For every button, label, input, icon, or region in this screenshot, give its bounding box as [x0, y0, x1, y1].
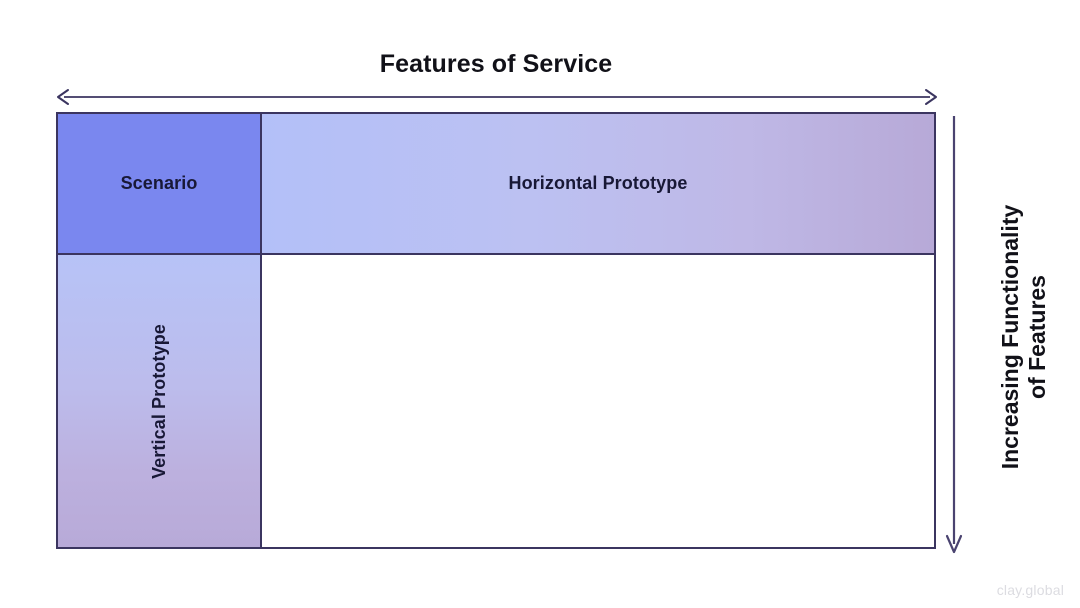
matrix-cell-scenario-label: Scenario: [121, 173, 198, 194]
matrix-cell-horizontal-prototype[interactable]: Horizontal Prototype: [262, 114, 934, 255]
matrix-cell-empty[interactable]: [262, 255, 934, 547]
right-axis-label-line2: of Features: [1024, 275, 1050, 399]
watermark: clay.global: [997, 582, 1064, 598]
matrix-cell-vertical-prototype[interactable]: Vertical Prototype: [58, 255, 262, 547]
right-axis: Increasing Functionality of Features: [938, 112, 1078, 560]
matrix-cell-scenario[interactable]: Scenario: [58, 114, 262, 255]
matrix-cell-vertical-prototype-label: Vertical Prototype: [148, 324, 169, 479]
horizontal-double-arrow-icon: [54, 82, 940, 112]
right-axis-label-line1: Increasing Functionality: [997, 205, 1023, 470]
top-axis-arrow: [54, 82, 940, 112]
page-title: Features of Service: [56, 50, 936, 79]
right-axis-label: Increasing Functionality of Features: [976, 114, 1072, 560]
matrix-cell-horizontal-prototype-label: Horizontal Prototype: [508, 173, 687, 194]
prototype-matrix: Scenario Horizontal Prototype Vertical P…: [56, 112, 936, 549]
vertical-down-arrow-icon: [938, 112, 978, 560]
